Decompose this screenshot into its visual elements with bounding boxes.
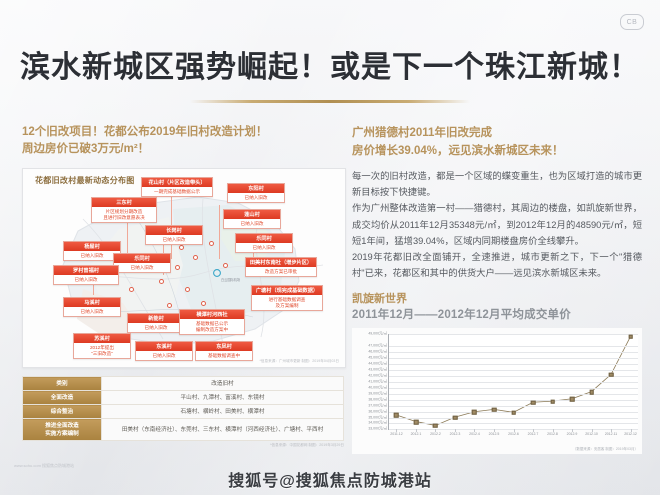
map-tag-name: 三东村: [92, 198, 156, 207]
map-tag[interactable]: 长岗村 已纳入旧改: [145, 225, 203, 245]
brand-logo-icon: CB: [620, 14, 644, 30]
right-paragraph-1: 每一次的旧村改造，都是一个区域的蝶变重生，也为区域打造的城市更新目标按下快捷键。: [352, 168, 642, 200]
chart-x-tick-label: 2012.11: [605, 432, 617, 436]
chart-y-tick-label: 39,000元/㎡: [368, 391, 387, 396]
left-lead-line1: 12个旧改项目！花都公布2019年旧村改造计划！: [22, 124, 344, 141]
chart-gridline: [389, 382, 638, 383]
chart-gridline: [389, 406, 638, 407]
map-tag[interactable]: 新能村 已纳入旧改: [127, 313, 185, 333]
map-tag-name: 花山村（片区改造带头）: [142, 178, 212, 187]
chart-x-tick-label: 2012.3: [450, 432, 461, 436]
map-tag-status: 2012年提出 "三旧改造": [74, 343, 130, 358]
chart-y-tick-label: 43,000元/㎡: [368, 368, 387, 373]
title-divider: [190, 100, 470, 103]
map-tag[interactable]: 横潭村河西社 基础数据已公示 编制改造方案中: [179, 309, 245, 335]
map-tag-status: 已纳入旧改: [224, 219, 280, 228]
chart-gridline: [389, 346, 638, 347]
map-tag-name: 东凤村: [196, 342, 252, 351]
map-tag-name: 马溪村: [64, 298, 120, 307]
table-row-value: 平山村、九潭村、富溪村、东镜村: [102, 391, 344, 405]
chart-gridline: [389, 400, 638, 401]
map-tag-name: 莲山村: [224, 210, 280, 219]
chart-gridline: [389, 358, 638, 359]
chart-gridline: [389, 388, 638, 389]
chart-y-tick-label: 45,000元/㎡: [368, 356, 387, 361]
chart-y-tick-label: 49,000元/㎡: [368, 332, 387, 337]
map-tag-status: 已纳入旧改: [114, 263, 170, 272]
chart-y-tick-label: 35,000元/㎡: [368, 415, 387, 420]
poster-page: CB 滨水新城区强势崛起！或是下一个珠江新城！ 12个旧改项目！花都公布2019…: [0, 0, 660, 495]
chart-x-tick-label: 2012.1: [411, 432, 422, 436]
map-tag[interactable]: 乐同村 已纳入旧改: [235, 233, 293, 253]
brand-logo-text: CB: [627, 19, 638, 26]
map-tag-status: 片区规划分期改造 且进行旧改意愿表决: [92, 207, 156, 222]
map-tag-status: 已纳入旧改: [64, 251, 120, 260]
map-tag[interactable]: 田美村东南社（增步片区） 改造方案已审批: [245, 257, 317, 277]
map-tag[interactable]: 东阳村 已纳入旧改: [227, 183, 285, 203]
chart-gridline: [389, 376, 638, 377]
table-row-label: 全面改造: [23, 391, 102, 405]
chart-subtitle: 2011年12月——2012年12月平均成交单价: [352, 307, 642, 324]
map-tag-status: 已纳入旧改: [228, 193, 284, 202]
chart-y-tick-label: 46,000元/㎡: [368, 350, 387, 355]
map-dot: [159, 279, 164, 284]
map-tag-status: 改造方案已审批: [246, 267, 316, 276]
chart-title: 凯旋新世界: [352, 291, 642, 307]
renovation-table: 类别 改造旧村 全面改造 平山村、九潭村、富溪村、东镜村 综合整治 石塘村、横岭…: [22, 376, 344, 441]
chart-y-tick-label: 47,000元/㎡: [368, 344, 387, 349]
map-tag-name: 东溪村: [136, 342, 192, 351]
table-row-label: 综合整治: [23, 405, 102, 419]
right-column: 广州猎德村2011年旧改完成 房价增长39.04%，远见滨水新城区未来！ 每一次…: [352, 124, 642, 454]
map-dot: [201, 301, 206, 306]
map-tag-status: 已纳入旧改: [236, 243, 292, 252]
map-tag-name: 田美村东南社（增步片区）: [246, 258, 316, 267]
svg-text:白云国际机场: 白云国际机场: [221, 277, 240, 282]
map-tag-name: 乐同村: [114, 254, 170, 263]
chart-y-tick-label: 36,000元/㎡: [368, 409, 387, 414]
map-dot: [185, 287, 190, 292]
left-lead-line2: 周边房价已破3万元/m²！: [22, 141, 344, 158]
chart-gridline: [389, 418, 638, 419]
map-dot: [129, 287, 134, 292]
map-source: *信息来源：广州城市更新 制图：2019年04月03日: [260, 359, 339, 364]
chart-source: （数据来源：安居客 制图：2019年03月）: [573, 447, 638, 452]
map-tag[interactable]: 广塘村（现完成基础数据） 进行基础数据调查 及方案编制: [251, 285, 323, 311]
table-header-value: 改造旧村: [102, 377, 344, 391]
chart-data-point: [531, 400, 536, 405]
chart-data-point: [589, 390, 594, 395]
chart-x-tick-label: 2012.6: [508, 432, 519, 436]
right-paragraph-3: 2019年花都旧改全面铺开，全速推进，城市更新之下，下一个"猎德村"已来，花都区…: [352, 249, 642, 281]
map-connector: [219, 205, 220, 259]
map-dot: [175, 265, 180, 270]
map-tag[interactable]: 东溪村 已纳入旧改: [135, 341, 193, 361]
map-tag-status: 已纳入旧改: [54, 275, 118, 284]
chart-y-tick-label: 41,000元/㎡: [368, 379, 387, 384]
map-tag-status: 基础数据已公示 编制改造方案中: [180, 319, 244, 334]
right-body: 每一次的旧村改造，都是一个区域的蝶变重生，也为区域打造的城市更新目标按下快捷键。…: [352, 168, 642, 281]
map-tag[interactable]: 罗村曾福村 已纳入旧改: [53, 265, 119, 285]
map-tag-status: 已纳入旧改: [136, 351, 192, 360]
table-row: 全面改造 平山村、九潭村、富溪村、东镜村: [23, 391, 344, 405]
chart-gridline: [389, 423, 638, 424]
village-map-card: 白云国际机场 花都旧改村最新动态分布图: [22, 168, 346, 368]
chart-gridline: [389, 334, 638, 335]
map-tag-name: 东阳村: [228, 184, 284, 193]
chart-data-point: [414, 420, 419, 425]
map-tag-name: 苏溪村: [74, 334, 130, 343]
map-tag[interactable]: 三东村 片区规划分期改造 且进行旧改意愿表决: [91, 197, 157, 223]
map-tag[interactable]: 东凤村 基础数据调查中: [195, 341, 253, 361]
right-lead-line1: 广州猎德村2011年旧改完成: [352, 124, 642, 142]
table-source: *信息来源：中国花都网 制图：2019年3月29日: [22, 443, 344, 448]
table-header-label: 类别: [23, 377, 102, 391]
right-lead: 广州猎德村2011年旧改完成 房价增长39.04%，远见滨水新城区未来！: [352, 124, 642, 160]
map-tag-name: 新能村: [128, 314, 184, 323]
table-row: 推进全面改造 实施方案编制 田美村（东南经济社）、东莞村、三东村、横潭村（河西经…: [23, 419, 344, 441]
right-lead-line2: 房价增长39.04%，远见滨水新城区未来！: [352, 142, 642, 160]
chart-data-point: [472, 410, 477, 415]
map-tag-name: 横潭村河西社: [180, 310, 244, 319]
map-dot: [209, 241, 214, 246]
chart-x-tick-label: 2012.2: [430, 432, 441, 436]
left-column: 12个旧改项目！花都公布2019年旧村改造计划！ 周边房价已破3万元/m²！: [22, 124, 344, 448]
map-tag-name: 乐同村: [236, 234, 292, 243]
map-tag-status: 一期完成基础数据公示: [142, 187, 212, 196]
map-tag-name: 罗村曾福村: [54, 266, 118, 275]
right-paragraph-2: 作为广州整体改造第一村——猎德村，其周边的楼盘，如凯旋新世界，成交均价从2011…: [352, 200, 642, 249]
map-tag-status: 已纳入旧改: [146, 235, 202, 244]
map-tag[interactable]: 莲山村 已纳入旧改: [223, 209, 281, 229]
chart-y-tick-label: 40,000元/㎡: [368, 385, 387, 390]
chart-data-point: [570, 397, 575, 402]
chart-x-tick-label: 2012.4: [469, 432, 480, 436]
map-tag-status: 已纳入旧改: [64, 307, 120, 316]
chart-x-tick-label: 2012.12: [624, 432, 637, 436]
map-dot: [223, 263, 228, 268]
chart-data-point: [628, 335, 633, 340]
chart-data-point: [394, 413, 399, 418]
chart-gridline: [389, 364, 638, 365]
table-row-value: 石塘村、横岭村、田美村、横潭村: [102, 405, 344, 419]
map-tag-status: 基础数据调查中: [196, 351, 252, 360]
map-dot: [179, 245, 184, 250]
table-row-value: 田美村（东南经济社）、东莞村、三东村、横潭村（河西经济社）、广塘村、平西村: [102, 419, 344, 441]
map-tag-status: 已纳入旧改: [128, 323, 184, 332]
map-tag[interactable]: 马溪村 已纳入旧改: [63, 297, 121, 317]
map-tag-name: 长岗村: [146, 226, 202, 235]
map-title: 花都旧改村最新动态分布图: [35, 175, 135, 186]
chart-x-tick-label: 2012.9: [567, 432, 578, 436]
price-chart: 49,000元/㎡47,000元/㎡46,000元/㎡45,000元/㎡44,0…: [352, 328, 642, 454]
map-tag-name: 杨屋村: [64, 242, 120, 251]
chart-data-point: [492, 408, 497, 413]
table-row-label: 推进全面改造 实施方案编制: [23, 419, 102, 441]
chart-x-tick-label: 2012.5: [489, 432, 500, 436]
map-tag[interactable]: 乐同村 已纳入旧改: [113, 253, 171, 273]
chart-gridline: [389, 394, 638, 395]
chart-data-point: [433, 424, 438, 429]
chart-y-tick-label: 33,000元/㎡: [368, 427, 387, 432]
chart-plot-area: 49,000元/㎡47,000元/㎡46,000元/㎡45,000元/㎡44,0…: [388, 334, 638, 430]
chart-y-tick-label: 38,000元/㎡: [368, 397, 387, 402]
map-tag-status: 进行基础数据调查 及方案编制: [252, 295, 322, 310]
chart-y-tick-label: 37,000元/㎡: [368, 403, 387, 408]
map-tag[interactable]: 苏溪村 2012年提出 "三旧改造": [73, 333, 131, 359]
chart-data-point: [453, 415, 458, 420]
footer-watermark: 搜狐号@搜狐焦点防城港站: [0, 467, 660, 491]
chart-data-point: [609, 373, 614, 378]
map-dot: [167, 303, 172, 308]
table-row: 综合整治 石塘村、横岭村、田美村、横潭村: [23, 405, 344, 419]
table-row: 类别 改造旧村: [23, 377, 344, 391]
chart-data-point: [511, 411, 516, 416]
chart-data-point: [550, 399, 555, 404]
chart-x-tick-label: 2012.8: [547, 432, 558, 436]
chart-y-tick-label: 34,000元/㎡: [368, 421, 387, 426]
map-dot: [193, 255, 198, 260]
chart-y-tick-label: 44,000元/㎡: [368, 362, 387, 367]
map-tag-name: 广塘村（现完成基础数据）: [252, 286, 322, 295]
map-tag[interactable]: 花山村（片区改造带头） 一期完成基础数据公示: [141, 177, 213, 197]
chart-x-tick-label: 2012.10: [585, 432, 598, 436]
chart-gridline: [389, 370, 638, 371]
page-title: 滨水新城区强势崛起！或是下一个珠江新城！: [0, 42, 660, 86]
left-lead: 12个旧改项目！花都公布2019年旧村改造计划！ 周边房价已破3万元/m²！: [22, 124, 344, 158]
chart-x-tick-label: 2012.7: [528, 432, 539, 436]
chart-gridline: [389, 352, 638, 353]
chart-y-tick-label: 42,000元/㎡: [368, 373, 387, 378]
chart-x-tick-label: 2011.12: [390, 432, 402, 436]
